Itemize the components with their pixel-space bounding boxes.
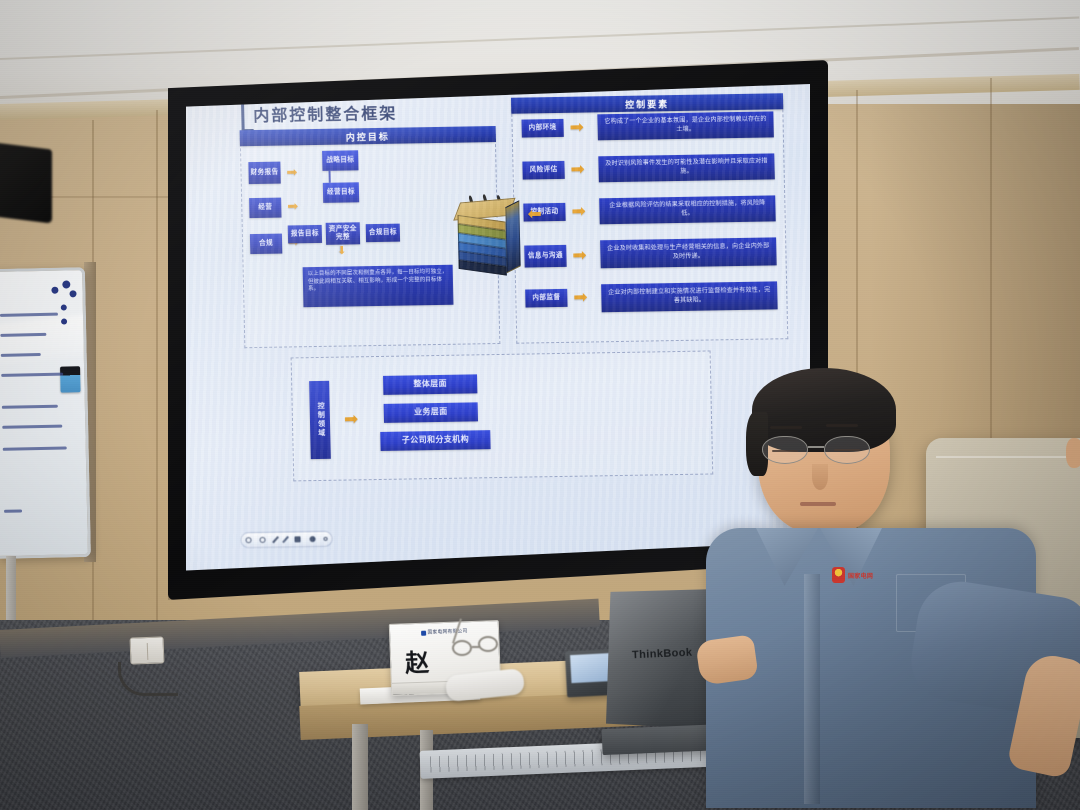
wall-panel-seam — [156, 110, 158, 670]
control-element-desc: 它构成了一个企业的基本氛围，是企业内部控制赖以存在的土壤。 — [597, 111, 774, 140]
objective-node: 经营 — [249, 198, 281, 219]
shirt-logo-text: 国家电网 — [848, 571, 873, 580]
annotation-toolbar[interactable] — [240, 531, 332, 549]
arrow-icon: ➡ — [287, 199, 298, 212]
seated-person: 国家电网 — [700, 360, 1080, 810]
node-connector — [329, 171, 331, 183]
eye-right — [834, 449, 860, 451]
domain-level: 业务层面 — [384, 402, 478, 423]
glasses-bridge — [472, 646, 480, 648]
chair-seam — [936, 456, 1080, 458]
lens-right — [478, 636, 498, 652]
arrow-icon: ➡ — [286, 165, 297, 178]
magnet-icon — [51, 287, 58, 294]
eraser-icon[interactable] — [295, 536, 301, 542]
lens-left — [452, 640, 472, 656]
control-element-label: 内部监督 — [525, 289, 567, 308]
arrow-icon: ➡ — [572, 247, 587, 264]
eyebrow-right — [826, 424, 858, 427]
company-emblem-icon — [832, 567, 845, 583]
arrow-icon: ➡ — [573, 289, 588, 306]
control-element-desc: 企业对内部控制建立和实施情况进行监督检查并有效性，完善其缺陷。 — [601, 281, 778, 312]
glasses-bridge — [808, 446, 824, 448]
more-icon[interactable] — [323, 537, 327, 541]
control-element-desc: 企业根据风险评估的结果采取相应的控制措施，将风险降低。 — [599, 195, 776, 224]
wall-outlet[interactable] — [130, 636, 165, 664]
shirt-placket — [804, 574, 820, 804]
mouth — [800, 502, 836, 506]
objective-node: 合规 — [250, 234, 282, 255]
shape-icon[interactable] — [309, 536, 315, 542]
target-node: 战略目标 — [322, 150, 358, 171]
lower-node: 资产安全完整 — [326, 222, 360, 245]
control-element-label: 内部环境 — [521, 119, 563, 138]
control-element-desc: 企业及时收集和处理与生产经营相关的信息，向企业内外部及时传递。 — [600, 237, 777, 268]
arrow-to-cube-icon: ⬅ — [527, 205, 542, 222]
domain-level: 整体层面 — [383, 374, 477, 395]
lower-node: 报告目标 — [288, 225, 322, 244]
ceiling-speaker — [0, 142, 52, 223]
control-element-label: 风险评估 — [522, 161, 564, 180]
highlighter-icon[interactable] — [282, 536, 289, 543]
whiteboard-glare — [0, 312, 91, 366]
target-node: 经营目标 — [323, 182, 359, 203]
hand — [695, 634, 759, 686]
handwriting-stroke — [2, 425, 62, 429]
eyeglasses-icon — [762, 436, 886, 464]
objective-node: 财务报告 — [248, 162, 280, 185]
arrow-icon: ➡ — [570, 161, 585, 178]
arrow-icon: ➡ — [569, 119, 584, 136]
control-element-label: 信息与沟通 — [524, 245, 566, 268]
domain-level: 子公司和分支机构 — [380, 430, 490, 451]
arrow-icon: ➡ — [571, 203, 586, 220]
whiteboard — [0, 267, 91, 559]
conference-room-scene: 内部控制整合框架 内控目标 财务报告 经营 合规 ➡ ➡ ➡ 战略目标 经营目标… — [0, 0, 1080, 810]
handwriting-stroke — [2, 405, 58, 409]
title-corner-mark — [241, 102, 254, 132]
nose — [812, 464, 828, 490]
magnet-icon — [61, 318, 67, 324]
undo-icon[interactable] — [246, 537, 252, 543]
eyebrow-left — [770, 426, 802, 429]
slide-title: 内部控制整合框架 — [253, 100, 398, 126]
redo-icon[interactable] — [260, 537, 266, 543]
whiteboard-eraser-icon[interactable] — [60, 366, 81, 392]
handwriting-stroke — [4, 509, 22, 512]
arrow-icon: ➡ — [344, 410, 359, 427]
eye-left — [772, 450, 798, 452]
handwriting-stroke — [1, 373, 63, 377]
handwriting-stroke — [0, 313, 58, 317]
magnet-icon — [61, 304, 67, 310]
control-element-desc: 及时识别风险事件发生的可能性及潜在影响并且采取应对措施。 — [598, 153, 775, 182]
desk-leg — [352, 724, 368, 810]
coso-cube-graphic — [457, 200, 521, 281]
objectives-note: 以上目标的不同层次和侧重点各异，每一目标均可独立，但彼此间相互关联、相互影响，形… — [303, 265, 454, 307]
control-domain-label: 控制领域 — [309, 381, 331, 459]
pen-icon[interactable] — [272, 536, 279, 543]
lower-node: 合规目标 — [366, 224, 400, 243]
magnet-icon — [62, 280, 70, 288]
arrow-down-icon: ➡ — [335, 245, 346, 254]
ear — [1066, 438, 1080, 468]
magnet-icon — [69, 290, 76, 297]
handwriting-stroke — [3, 446, 67, 450]
